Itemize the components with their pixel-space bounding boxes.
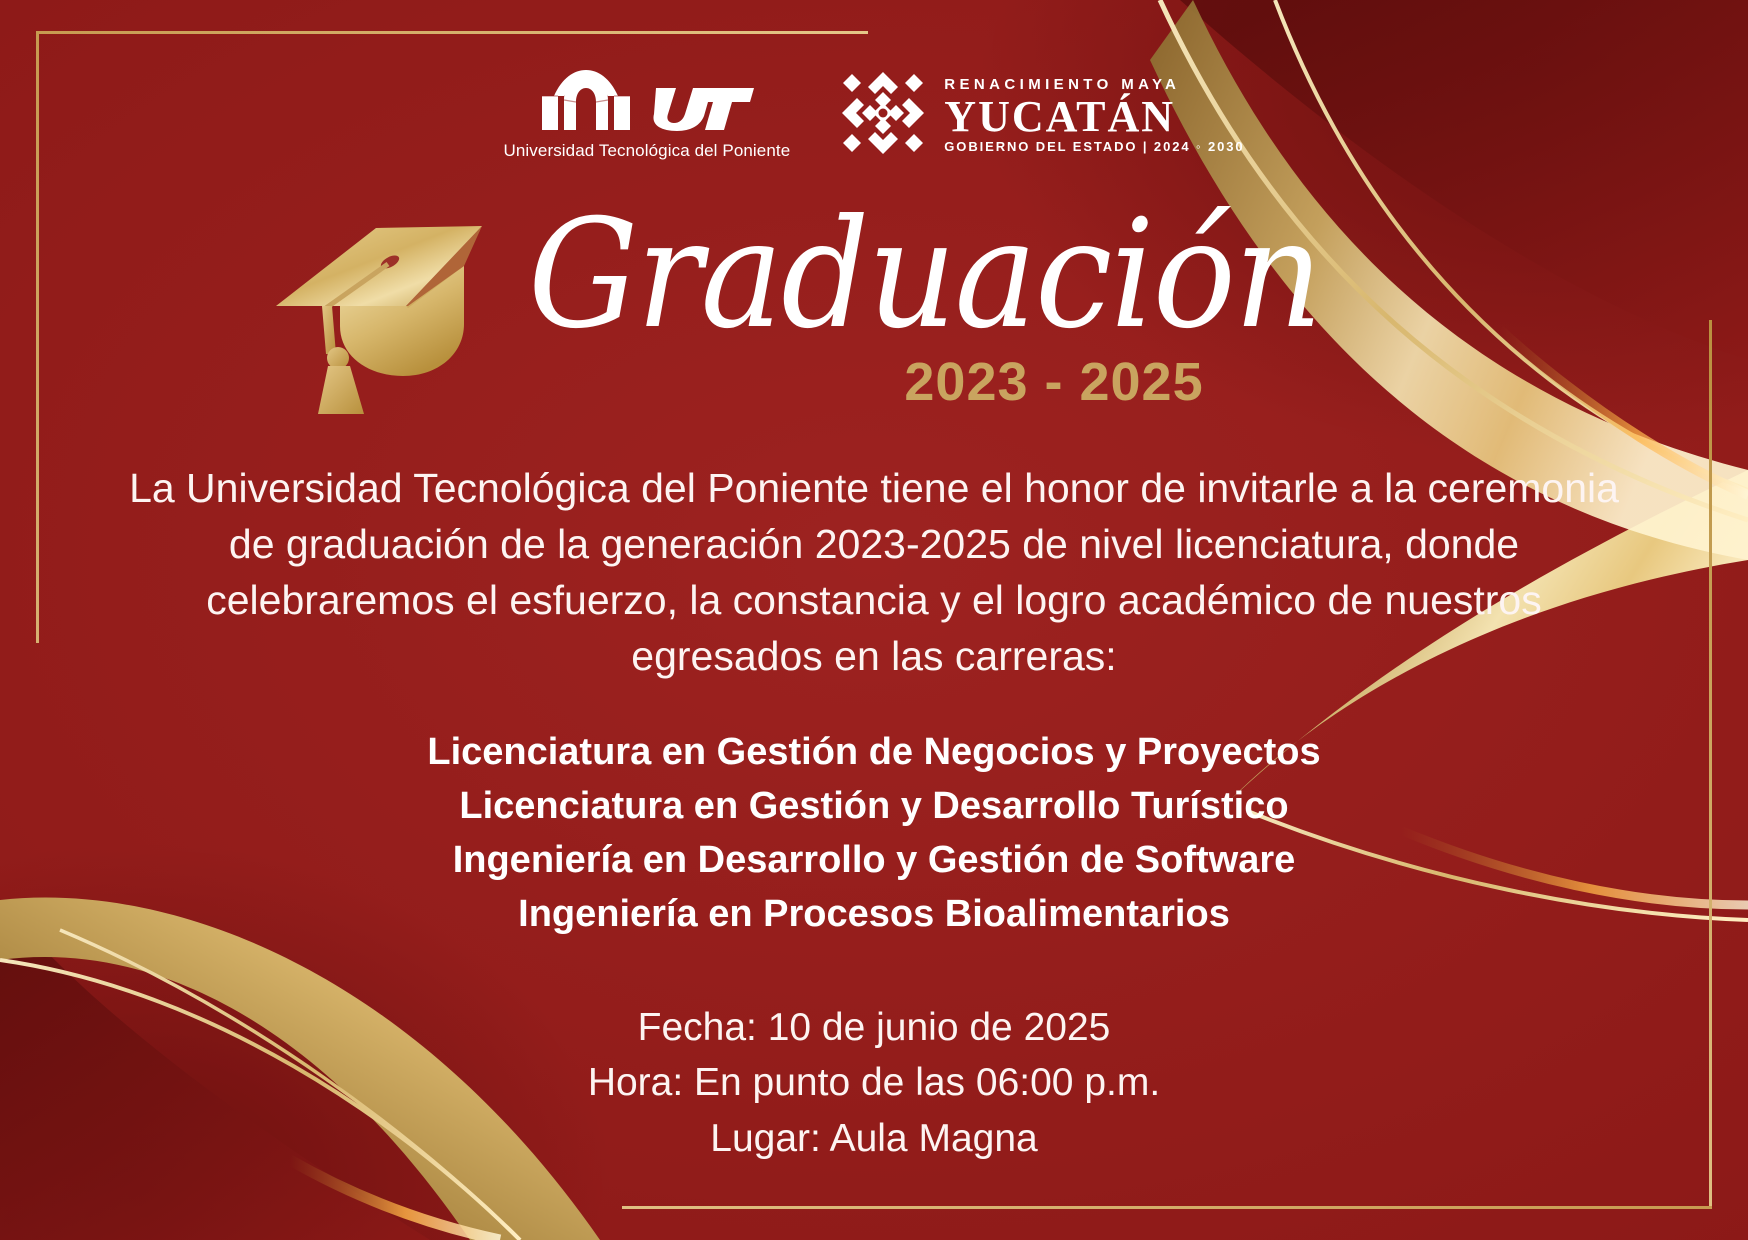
event-place: Lugar: Aula Magna [0,1111,1748,1166]
utp-letters [650,84,754,137]
event-time: Hora: En punto de las 06:00 p.m. [0,1055,1748,1110]
intro-paragraph: La Universidad Tecnológica del Poniente … [118,460,1630,685]
utp-caption: Universidad Tecnológica del Poniente [503,141,790,161]
career-item: Ingeniería en Desarrollo y Gestión de So… [0,834,1748,888]
title-block: Graduación 2023 - 2025 [0,196,1748,426]
utp-logo-mark [540,70,754,137]
yucatan-text-block: RENACIMIENTO MAYA YUCATÁN GOBIERNO DEL E… [944,77,1244,155]
year-range: 2023 - 2025 [0,351,1748,413]
career-item: Ingeniería en Procesos Bioalimentarios [0,888,1748,942]
career-item: Licenciatura en Gestión de Negocios y Pr… [0,726,1748,780]
utp-logo: Universidad Tecnológica del Poniente [503,70,790,161]
logo-bar: Universidad Tecnológica del Poniente [0,70,1748,161]
event-date: Fecha: 10 de junio de 2025 [0,1000,1748,1055]
graduacion-script-title: Graduación [70,200,1678,350]
event-details: Fecha: 10 de junio de 2025 Hora: En punt… [0,1000,1748,1166]
graduation-invitation-card: Universidad Tecnológica del Poniente [0,0,1748,1240]
careers-list: Licenciatura en Gestión de Negocios y Pr… [0,726,1748,942]
frame-top-line [36,31,868,34]
maya-glyph-icon [840,70,926,161]
yucatan-subline: GOBIERNO DEL ESTADO | 2024 ◦ 2030 [944,140,1244,154]
yucatan-tagline: RENACIMIENTO MAYA [944,77,1180,94]
career-item: Licenciatura en Gestión y Desarrollo Tur… [0,780,1748,834]
utp-arches-icon [540,70,644,137]
frame-bottom-line [622,1206,1712,1209]
yucatan-wordmark: YUCATÁN [944,95,1175,139]
yucatan-logo: RENACIMIENTO MAYA YUCATÁN GOBIERNO DEL E… [840,70,1244,161]
